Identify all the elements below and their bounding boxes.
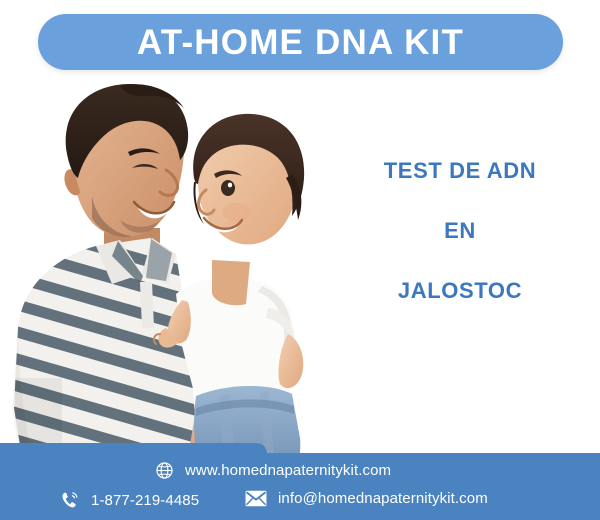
family-photo-illustration [0,78,330,478]
website-text: www.homednapaternitykit.com [185,463,391,478]
family-photo [0,78,330,478]
headline-line-3: JALOSTOC [330,280,590,302]
headline-block: TEST DE ADN EN JALOSTOC [330,160,590,302]
phone-text: 1-877-219-4485 [91,493,199,508]
contact-phone[interactable]: 1-877-219-4485 [60,490,199,510]
phone-icon [60,490,80,510]
contact-email[interactable]: info@homednapaternitykit.com [245,490,488,507]
headline-line-2: EN [330,220,590,242]
email-text: info@homednapaternitykit.com [278,491,488,506]
envelope-icon [245,490,267,507]
poster-canvas: AT-HOME DNA KIT [0,0,600,520]
contact-website[interactable]: www.homednapaternitykit.com [155,461,391,480]
footer-contact-bar: www.homednapaternitykit.com 1-877-219-44… [0,440,600,520]
header-banner: AT-HOME DNA KIT [38,14,563,70]
headline-line-1: TEST DE ADN [330,160,590,182]
footer-content: www.homednapaternitykit.com 1-877-219-44… [0,440,600,520]
header-title: AT-HOME DNA KIT [137,25,464,60]
globe-icon [155,461,174,480]
